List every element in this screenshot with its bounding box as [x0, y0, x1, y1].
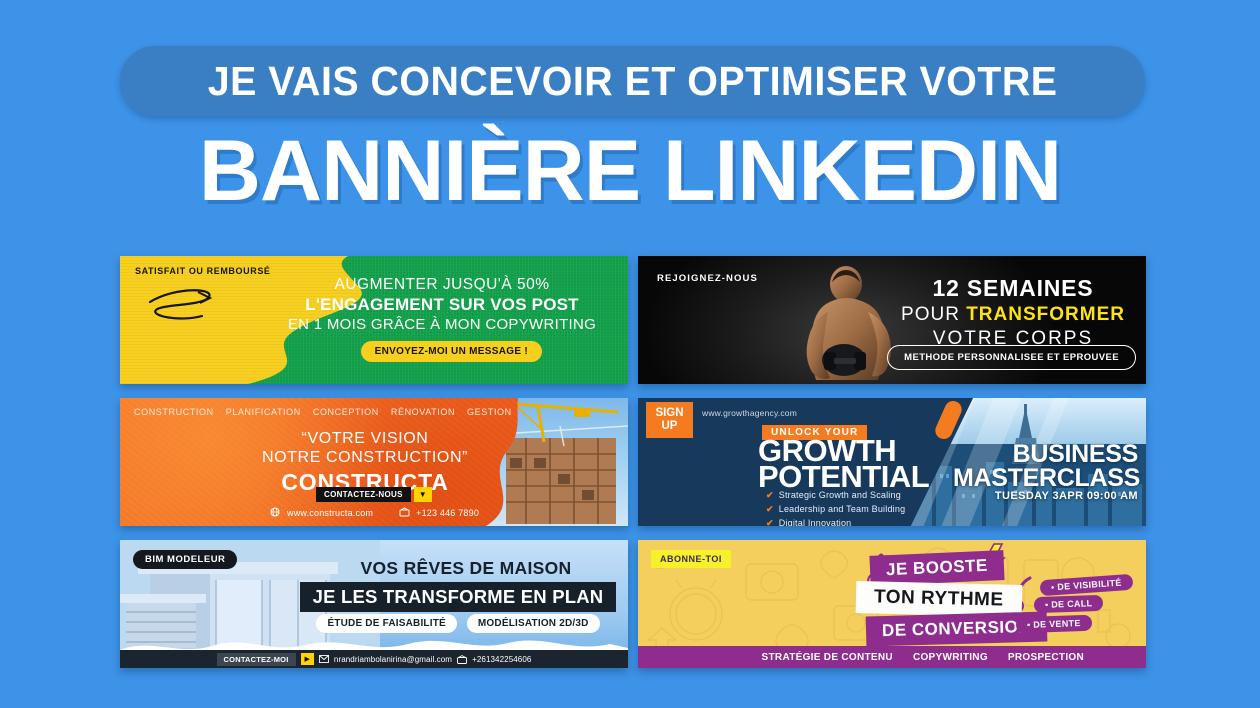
menu-item-2[interactable]: CONCEPTION: [313, 407, 379, 417]
bullet-item: ✔Leadership and Team Building: [766, 504, 905, 515]
fitness-line-2: POUR TRANSFORMER: [888, 304, 1138, 326]
fitness-line-2-highlight: TRANSFORMER: [966, 304, 1125, 325]
banner-booste[interactable]: ABONNE-TOI JE BOOSTE TON RYTHME DE CONVE…: [638, 540, 1146, 668]
headline-pill-text: JE VAIS CONCEVOIR ET OPTIMISER VOTRE: [208, 58, 1058, 105]
booste-block-2: TON RYTHME: [856, 581, 1022, 617]
bullet-text: Digital Innovation: [779, 518, 852, 526]
signup-line-2: UP: [662, 420, 678, 433]
bim-line-1: VOS RÊVES DE MAISON: [316, 558, 616, 579]
masterclass-title-2: MASTERCLASS: [953, 466, 1140, 491]
page-title: BANNIÈRE LINKEDIN: [0, 128, 1260, 214]
phone-icon: [457, 655, 467, 664]
method-badge[interactable]: METHODE PERSONNALISEE ET EPROUVEE: [887, 345, 1136, 370]
booste-pill: • DE VENTE: [1016, 615, 1092, 634]
bim-chip[interactable]: ÉTUDE DE FAISABILITÉ: [316, 614, 456, 633]
service-item: COPYWRITING: [913, 652, 988, 663]
copywriting-headline: AUGMENTER JUSQU'À 50% L'ENGAGEMENT SUR V…: [272, 276, 612, 333]
bim-chip[interactable]: MODÉLISATION 2D/3D: [467, 614, 600, 633]
phone-text[interactable]: +123 446 7890: [416, 508, 479, 518]
bim-email[interactable]: nrandriambolanirina@gmail.com: [334, 655, 452, 664]
copy-line-3: EN 1 MOIS GRÂCE À MON COPYWRITING: [272, 316, 612, 333]
growth-website[interactable]: www.growthagency.com: [702, 408, 797, 418]
website-text[interactable]: www.constructa.com: [287, 508, 373, 518]
check-icon: ✔: [766, 490, 774, 500]
booste-pill: • DE CALL: [1034, 595, 1104, 613]
squiggle-arrow-icon: [146, 282, 226, 328]
bim-chips: ÉTUDE DE FAISABILITÉ MODÉLISATION 2D/3D: [300, 614, 616, 633]
bim-contact-bar: CONTACTEZ-MOI ▶ nrandriambolanirina@gmai…: [120, 650, 628, 668]
copy-line-1: AUGMENTER JUSQU'À 50%: [272, 276, 612, 294]
headline-pill: JE VAIS CONCEVOIR ET OPTIMISER VOTRE: [120, 46, 1145, 116]
service-item: PROSPECTION: [1008, 652, 1084, 663]
growth-headline-2: POTENTIAL: [758, 462, 929, 492]
chevron-down-icon: ▼: [414, 487, 432, 502]
banner-copywriting[interactable]: SATISFAIT OU REMBOURSÉ AUGMENTER JUSQU'À…: [120, 256, 628, 384]
fitness-headline: 12 SEMAINES POUR TRANSFORMER VOTRE CORPS: [888, 275, 1138, 350]
contact-cta[interactable]: CONTACTEZ-NOUS ▼: [316, 487, 432, 502]
bim-badge: BIM MODELEUR: [133, 550, 237, 569]
envelope-icon: [319, 655, 329, 663]
abonne-badge[interactable]: ABONNE-TOI: [651, 550, 731, 568]
masterclass-schedule: TUESDAY 3APR 09:00 AM: [995, 490, 1138, 502]
booste-block-1: JE BOOSTE: [869, 550, 1004, 586]
service-item: STRATÉGIE DE CONTENU: [762, 652, 893, 663]
banner-constructa[interactable]: CONSTRUCTIONPLANIFICATIONCONCEPTIONRÉNOV…: [120, 398, 628, 526]
copy-line-2: L'ENGAGEMENT SUR VOS POST: [272, 295, 612, 315]
constructa-line-1: “VOTRE VISION: [240, 430, 490, 448]
banner-bim[interactable]: BIM MODELEUR VOS RÊVES DE MAISON JE LES …: [120, 540, 628, 668]
menu-item-0[interactable]: CONSTRUCTION: [134, 407, 214, 417]
join-us-badge: REJOIGNEZ-NOUS: [657, 273, 758, 284]
menu-item-1[interactable]: PLANIFICATION: [226, 407, 301, 417]
growth-bullets: ✔Strategic Growth and Scaling ✔Leadershi…: [766, 490, 905, 526]
fitness-line-2-prefix: POUR: [901, 304, 966, 325]
constructa-line-2: NOTRE CONSTRUCTION”: [240, 449, 490, 467]
signup-line-1: SIGN: [655, 407, 683, 420]
contact-row: www.constructa.com +123 446 7890: [270, 507, 479, 518]
bullet-item: ✔Digital Innovation: [766, 518, 905, 526]
menu-item-3[interactable]: RÉNOVATION: [391, 407, 455, 417]
header: JE VAIS CONCEVOIR ET OPTIMISER VOTRE BAN…: [0, 0, 1260, 240]
globe-search-icon: [270, 507, 281, 518]
signup-badge[interactable]: SIGN UP: [646, 402, 693, 438]
banner-fitness[interactable]: REJOIGNEZ-NOUS 12 SEMAINES POUR TRANSFOR…: [638, 256, 1146, 384]
booste-services-strip: STRATÉGIE DE CONTENU COPYWRITING PROSPEC…: [638, 646, 1146, 668]
bullet-text: Leadership and Team Building: [779, 504, 906, 514]
bullet-text: Strategic Growth and Scaling: [779, 490, 901, 500]
fitness-line-1: 12 SEMAINES: [888, 275, 1138, 302]
check-icon: ✔: [766, 518, 774, 526]
menu-item-4[interactable]: GESTION: [467, 407, 512, 417]
phone-icon: [399, 507, 410, 518]
send-message-button[interactable]: ENVOYEZ-MOI UN MESSAGE !: [361, 341, 542, 362]
services-menu: CONSTRUCTIONPLANIFICATIONCONCEPTIONRÉNOV…: [134, 407, 524, 417]
banner-growth[interactable]: SIGN UP www.growthagency.com UNLOCK YOUR…: [638, 398, 1146, 526]
bim-line-2: JE LES TRANSFORME EN PLAN: [300, 582, 616, 612]
bullet-item: ✔Strategic Growth and Scaling: [766, 490, 905, 501]
check-icon: ✔: [766, 504, 774, 514]
bim-phone[interactable]: +261342254606: [472, 655, 531, 664]
guarantee-badge: SATISFAIT OU REMBOURSÉ: [135, 266, 271, 276]
contact-label: CONTACTEZ-NOUS: [316, 487, 411, 502]
bim-contact-label[interactable]: CONTACTEZ-MOI: [217, 653, 296, 666]
banner-grid: SATISFAIT OU REMBOURSÉ AUGMENTER JUSQU'À…: [120, 256, 1146, 668]
play-arrow-icon: ▶: [301, 653, 314, 665]
